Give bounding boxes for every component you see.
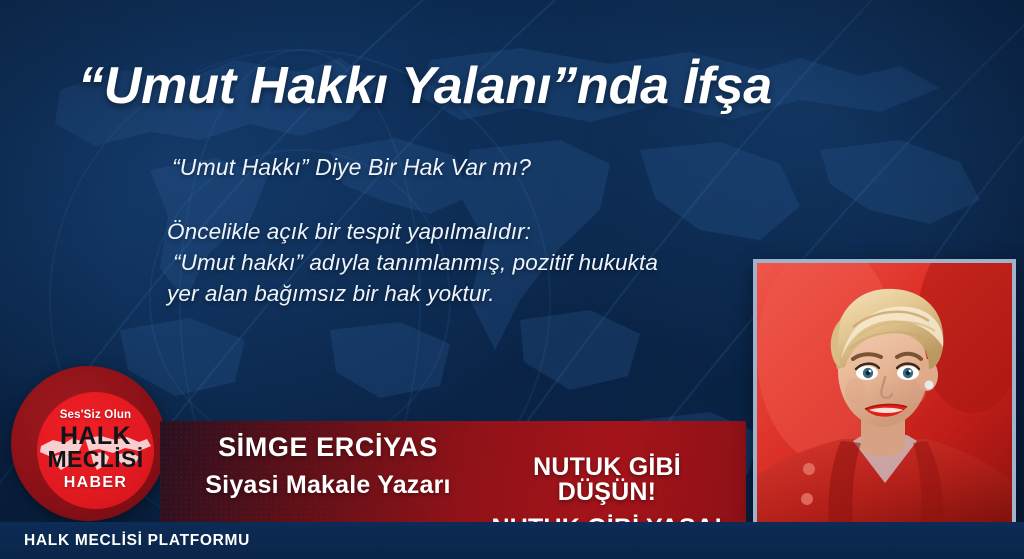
footer-bar: HALK MECLİSİ PLATFORMU	[0, 522, 1024, 559]
author-photo-frame	[753, 259, 1016, 527]
logo-text-stack: Ses'Siz Olun HALK MECLİSİ HABER	[37, 392, 154, 509]
footer-platform-label: HALK MECLİSİ PLATFORMU	[24, 532, 250, 550]
halk-meclisi-logo[interactable]: Ses'Siz Olun HALK MECLİSİ HABER	[11, 366, 166, 521]
body-line-2: “Umut hakkı” adıyla tanımlanmış, pozitif…	[167, 247, 658, 278]
slogan-line-1: NUTUK GİBİ DÜŞÜN!	[482, 455, 732, 505]
author-info: SİMGE ERCİYAS Siyasi Makale Yazarı	[178, 434, 478, 498]
news-graphic-poster: “Umut Hakkı Yalanı”nda İfşa “Umut Hakkı”…	[0, 0, 1024, 559]
logo-tagline: Ses'Siz Olun	[60, 410, 132, 422]
body-line-3: yer alan bağımsız bir hak yoktur.	[167, 278, 658, 309]
body-line-1: Öncelikle açık bir tespit yapılmalıdır:	[167, 216, 658, 247]
logo-inner-circle: Ses'Siz Olun HALK MECLİSİ HABER	[37, 392, 154, 509]
page-title: “Umut Hakkı Yalanı”nda İfşa	[78, 58, 908, 114]
avatar	[757, 263, 1012, 523]
logo-word-meclisi: MECLİSİ	[47, 448, 143, 471]
logo-word-haber: HABER	[64, 475, 127, 491]
author-name: SİMGE ERCİYAS	[178, 434, 478, 461]
author-banner: SİMGE ERCİYAS Siyasi Makale Yazarı NUTUK…	[160, 421, 746, 522]
body-paragraph: Öncelikle açık bir tespit yapılmalıdır: …	[167, 216, 658, 309]
author-role: Siyasi Makale Yazarı	[178, 473, 478, 498]
subtitle-question: “Umut Hakkı” Diye Bir Hak Var mı?	[172, 154, 531, 181]
